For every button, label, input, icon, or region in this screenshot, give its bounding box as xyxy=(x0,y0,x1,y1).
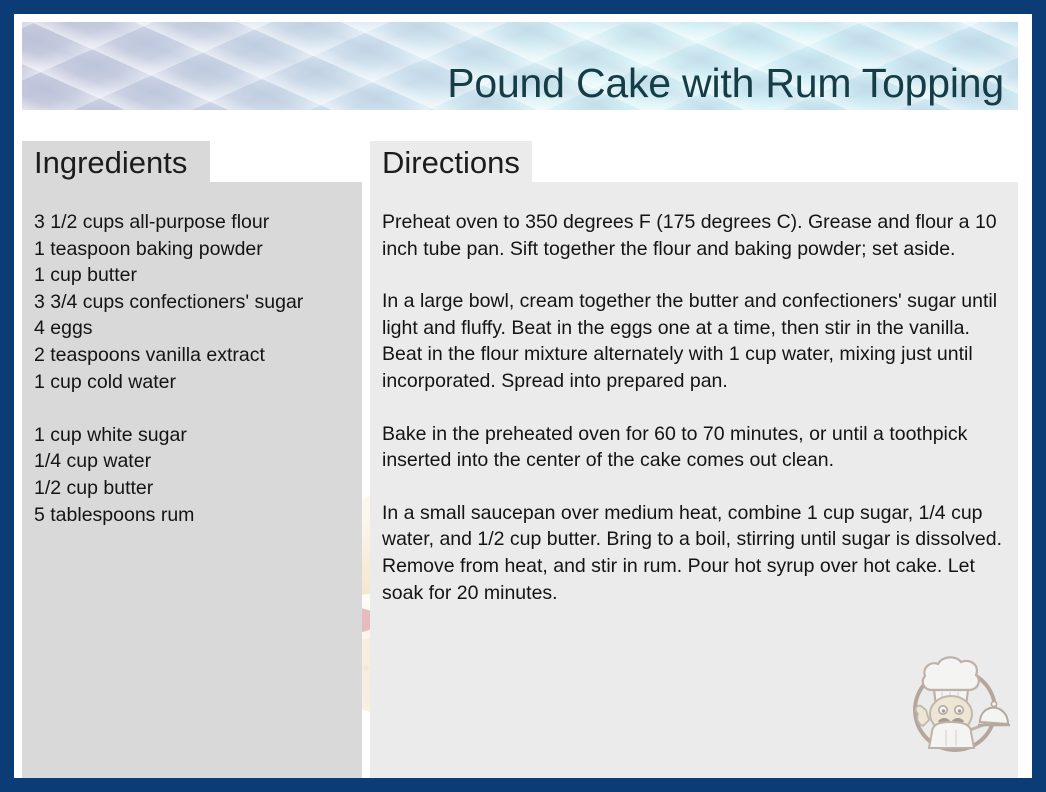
direction-paragraph: Bake in the preheated oven for 60 to 70 … xyxy=(382,421,1004,474)
ingredient-item: 1 cup cold water xyxy=(34,369,348,396)
ingredient-item: 3 1/2 cups all-purpose flour xyxy=(34,209,348,236)
ingredient-item: 1/2 cup butter xyxy=(34,475,348,502)
page-title: Pound Cake with Rum Topping xyxy=(447,63,1004,104)
direction-paragraph: In a small saucepan over medium heat, co… xyxy=(382,500,1004,606)
ingredient-item: 5 tablespoons rum xyxy=(34,502,348,529)
directions-text: Preheat oven to 350 degrees F (175 degre… xyxy=(382,209,1004,606)
ingredients-panel: Ingredients 3 1/2 cups all-purpose flour… xyxy=(22,141,362,785)
direction-paragraph: Preheat oven to 350 degrees F (175 degre… xyxy=(382,209,1004,262)
ingredient-list: 3 1/2 cups all-purpose flour1 teaspoon b… xyxy=(34,209,348,528)
ingredient-item: 1 cup butter xyxy=(34,262,348,289)
ingredient-item: 1 teaspoon baking powder xyxy=(34,236,348,263)
direction-paragraph: In a large bowl, cream together the butt… xyxy=(382,288,1004,394)
ingredient-item: 1 cup white sugar xyxy=(34,422,348,449)
ingredient-spacer xyxy=(34,395,348,422)
ingredients-heading: Ingredients xyxy=(22,141,210,182)
directions-panel: Directions Preheat oven to 350 degrees F… xyxy=(370,141,1018,785)
recipe-card: Pound Cake with Rum Topping Ingredients … xyxy=(0,0,1046,792)
ingredients-body: 3 1/2 cups all-purpose flour1 teaspoon b… xyxy=(22,182,362,785)
directions-body: Preheat oven to 350 degrees F (175 degre… xyxy=(370,182,1018,785)
ingredient-item: 4 eggs xyxy=(34,315,348,342)
ingredient-item: 3 3/4 cups confectioners' sugar xyxy=(34,289,348,316)
ingredient-item: 2 teaspoons vanilla extract xyxy=(34,342,348,369)
ingredient-item: 1/4 cup water xyxy=(34,448,348,475)
card-inner: Pound Cake with Rum Topping Ingredients … xyxy=(14,14,1032,778)
header-banner: Pound Cake with Rum Topping xyxy=(22,22,1018,110)
directions-heading: Directions xyxy=(370,141,532,182)
